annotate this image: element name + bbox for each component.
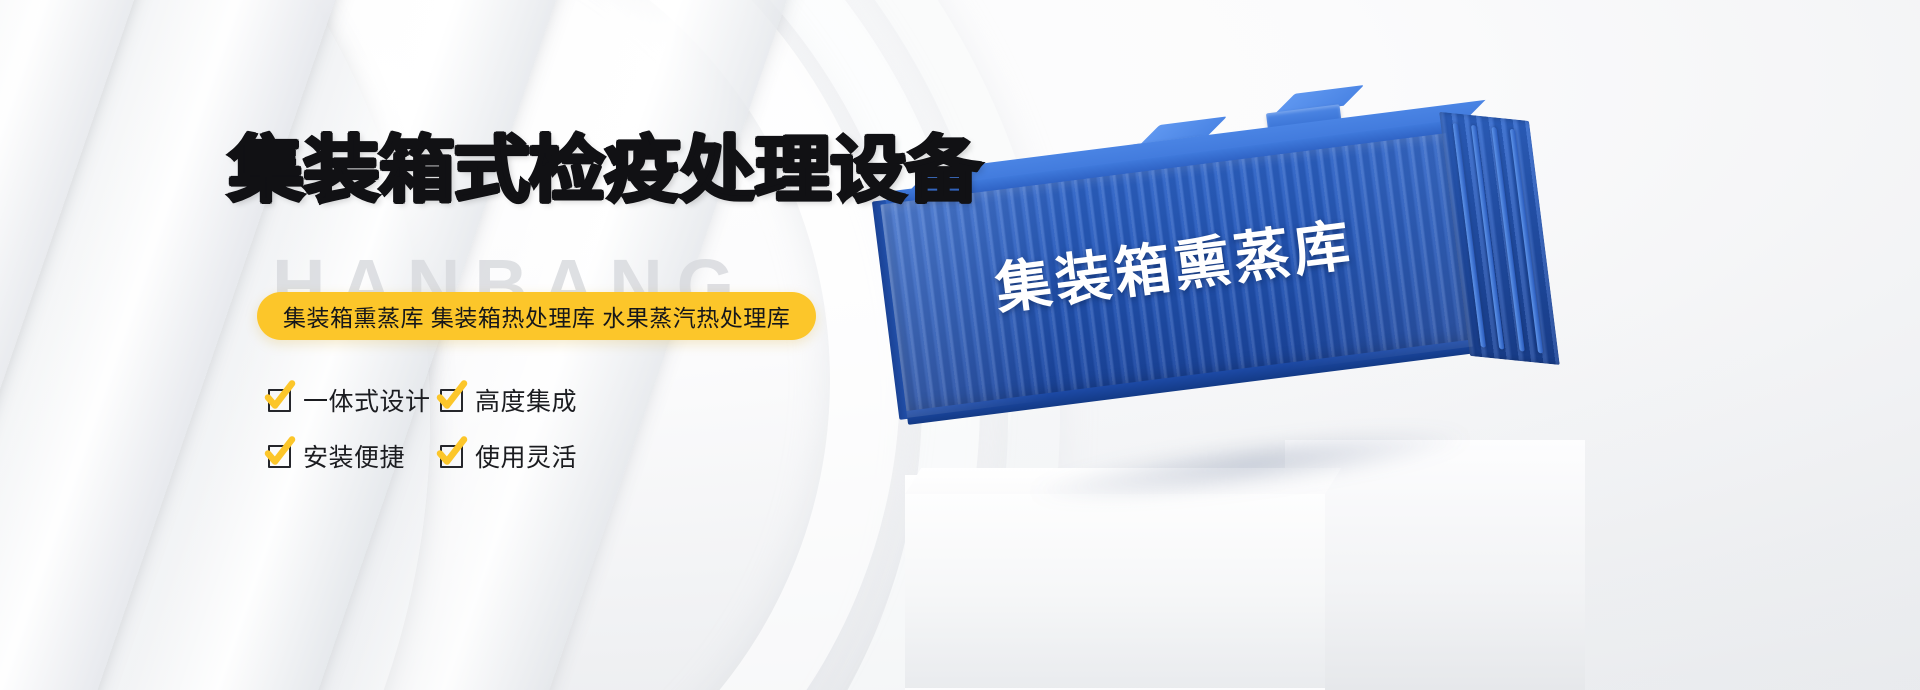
feature-label: 使用灵活 [475,438,577,474]
feature-item: 使用灵活 [440,428,612,484]
feature-item: 一体式设计 [268,372,440,428]
banner-content: HANBANG 集装箱式检疫处理设备 集装箱熏蒸库 集装箱热处理库 水果蒸汽热处… [0,0,1920,690]
promo-banner: 集装箱熏蒸库 HANBANG 集装箱式检疫处理设备 集装箱熏蒸库 集装箱热处理库… [0,0,1920,690]
feature-label: 安装便捷 [303,438,405,474]
feature-label: 一体式设计 [303,382,431,418]
feature-list: 一体式设计 高度集成 安装便捷 [268,372,612,484]
banner-headline: 集装箱式检疫处理设备 [228,134,981,206]
feature-item: 安装便捷 [268,428,440,484]
product-keywords-pill: 集装箱熏蒸库 集装箱热处理库 水果蒸汽热处理库 [257,292,816,340]
product-keywords-text: 集装箱熏蒸库 集装箱热处理库 水果蒸汽热处理库 [283,299,790,333]
feature-item: 高度集成 [440,372,612,428]
checkbox-checked-icon [440,389,463,412]
checkbox-checked-icon [440,445,463,468]
feature-label: 高度集成 [475,382,577,418]
checkbox-checked-icon [268,389,291,412]
checkbox-checked-icon [268,445,291,468]
